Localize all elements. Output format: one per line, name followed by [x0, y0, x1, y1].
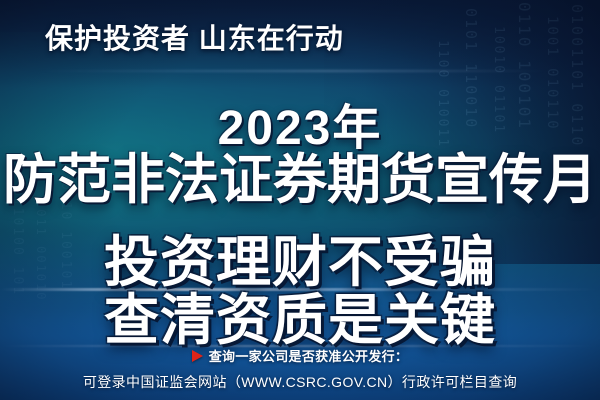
campaign-header: 保护投资者 山东在行动 — [45, 17, 344, 57]
title-block: 2023年 防范非法证券期货宣传月 — [0, 104, 600, 209]
slogan-line-2: 查清资质是关键 — [0, 292, 600, 348]
poster-canvas: 01001101 0110 1001 010110 0110 100101 10… — [0, 0, 600, 400]
slogan-block: 投资理财不受骗 查清资质是关键 — [0, 234, 600, 348]
footer-question-row: 查询一家公司是否获准公开发行： — [0, 346, 600, 365]
poster-content: 保护投资者 山东在行动 2023年 防范非法证券期货宣传月 投资理财不受骗 查清… — [0, 0, 600, 400]
footer-question-text: 查询一家公司是否获准公开发行： — [209, 346, 409, 365]
footer-block: 查询一家公司是否获准公开发行： 可登录中国证监会网站（WWW.CSRC.GOV.… — [0, 346, 600, 392]
footer-answer-text: 可登录中国证监会网站（WWW.CSRC.GOV.CN）行政许可栏目查询 — [0, 372, 600, 392]
red-triangle-icon — [192, 350, 203, 362]
slogan-line-1: 投资理财不受骗 — [0, 234, 600, 290]
title-main: 防范非法证券期货宣传月 — [0, 152, 600, 209]
title-year: 2023年 — [0, 104, 600, 154]
